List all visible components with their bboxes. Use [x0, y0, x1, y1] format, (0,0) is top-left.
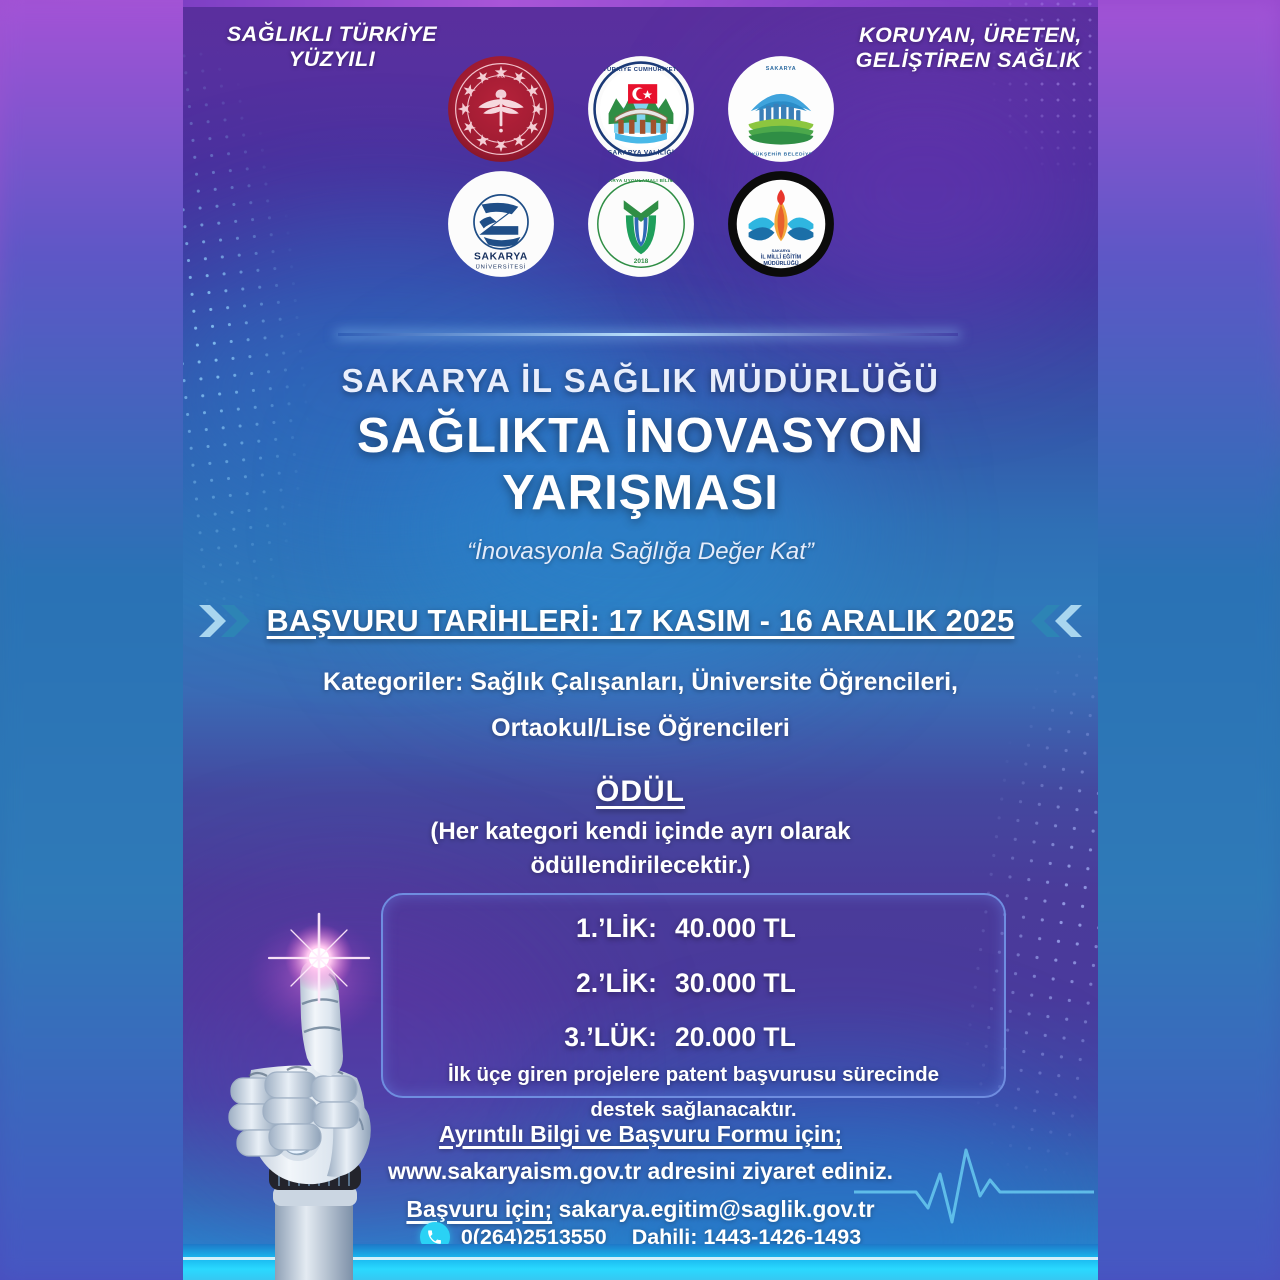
prize-rank-label: 3.’LÜK: [537, 1024, 657, 1051]
sakarya-governorship-logo: TÜRKİYE CUMHURİYETİ SAKARYA VALİLİĞİ [587, 55, 695, 163]
prize-box: 1.’LİK: 40.000 TL 2.’LİK: 30.000 TL 3.’L… [381, 893, 1006, 1098]
svg-text:T.C.: T.C. [496, 74, 505, 80]
chevron-right-icon [197, 601, 253, 641]
prize-rank-label: 1.’LİK: [537, 915, 657, 942]
svg-text:SAKARYA: SAKARYA [765, 66, 796, 72]
prize-note: (Her kategori kendi içinde ayrı olarak ö… [183, 815, 1098, 883]
svg-text:2018: 2018 [633, 258, 648, 265]
robotic-hand-illustration [203, 900, 418, 1280]
contact-email[interactable]: sakarya.egitim@saglik.gov.tr [559, 1196, 875, 1222]
sakarya-metropolitan-municipality-logo: SAKARYA BÜYÜKŞEHİR BELEDİYESİ [727, 55, 835, 163]
chevron-left-icon [1028, 601, 1084, 641]
poster: SAĞLIKLI TÜRKİYE YÜZYILI KORUYAN, ÜRETEN… [183, 0, 1098, 1280]
prize-row: 1.’LİK: 40.000 TL [383, 915, 1004, 942]
categories-line-2: Ortaokul/Lise Öğrencileri [183, 706, 1098, 752]
heartbeat-line-icon [854, 1140, 1094, 1232]
categories-text: Kategoriler: Sağlık Çalışanları, Ünivers… [183, 660, 1098, 751]
patent-note-line-1: İlk üçe giren projelere patent başvurusu… [383, 1057, 1004, 1093]
page-title-line-2: YARIŞMASI [183, 465, 1098, 522]
prize-amount: 40.000 TL [675, 915, 850, 942]
poster-top-strip [183, 0, 1098, 7]
sakarya-university-logo: SAKARYA ÜNİVERSİTESİ [447, 170, 555, 278]
page-title-line-1: SAĞLIKTA İNOVASYON [183, 408, 1098, 465]
prize-row: 2.’LİK: 30.000 TL [383, 970, 1004, 997]
sakarya-applied-sciences-university-logo: 2018 SAKARYA UYGULAMALI BİLİMLER [587, 170, 695, 278]
svg-text:TÜRKİYE CUMHURİYETİ: TÜRKİYE CUMHURİYETİ [603, 66, 679, 73]
application-dates-text: BAŞVURU TARİHLERİ: 17 KASIM - 16 ARALIK … [267, 604, 1015, 639]
application-dates-banner: BAŞVURU TARİHLERİ: 17 KASIM - 16 ARALIK … [183, 598, 1098, 644]
svg-text:SAKARYA UYGULAMALI BİLİMLER: SAKARYA UYGULAMALI BİLİMLER [597, 177, 683, 183]
svg-text:ÜNİVERSİTESİ: ÜNİVERSİTESİ [475, 263, 526, 270]
prize-note-line-1: (Her kategori kendi içinde ayrı olarak [183, 815, 1098, 849]
prize-heading: ÖDÜL [183, 775, 1098, 809]
subtitle-organization: SAKARYA İL SAĞLIK MÜDÜRLÜĞÜ [183, 362, 1098, 400]
provincial-directorate-of-education-logo: SAKARYA İL MİLLÎ EĞİTİM MÜDÜRLÜĞÜ [727, 170, 835, 278]
svg-text:SAKARYA VALİLİĞİ: SAKARYA VALİLİĞİ [607, 147, 673, 156]
svg-text:İL MİLLÎ EĞİTİM: İL MİLLÎ EĞİTİM [760, 253, 801, 261]
svg-text:BÜYÜKŞEHİR BELEDİYESİ: BÜYÜKŞEHİR BELEDİYESİ [743, 150, 818, 157]
competition-slogan: “İnovasyonla Sağlığa Değer Kat” [183, 538, 1098, 566]
prize-amount: 20.000 TL [675, 1024, 850, 1051]
prize-amount: 30.000 TL [675, 970, 850, 997]
contact-apply-label: Başvuru için; [406, 1196, 552, 1222]
svg-text:SAKARYA: SAKARYA [771, 248, 790, 253]
svg-text:MÜDÜRLÜĞÜ: MÜDÜRLÜĞÜ [763, 259, 798, 267]
prize-row: 3.’LÜK: 20.000 TL [383, 1024, 1004, 1051]
ministry-of-health-logo: T.C. [447, 55, 555, 163]
section-divider [338, 333, 958, 336]
categories-line-1: Kategoriler: Sağlık Çalışanları, Ünivers… [183, 660, 1098, 706]
svg-text:SAKARYA: SAKARYA [474, 252, 528, 263]
logo-group: T.C. [183, 55, 1098, 278]
prize-note-line-2: ödüllendirilecektir.) [183, 849, 1098, 883]
page-title: SAĞLIKTA İNOVASYON YARIŞMASI [183, 408, 1098, 523]
prize-rank-label: 2.’LİK: [537, 970, 657, 997]
